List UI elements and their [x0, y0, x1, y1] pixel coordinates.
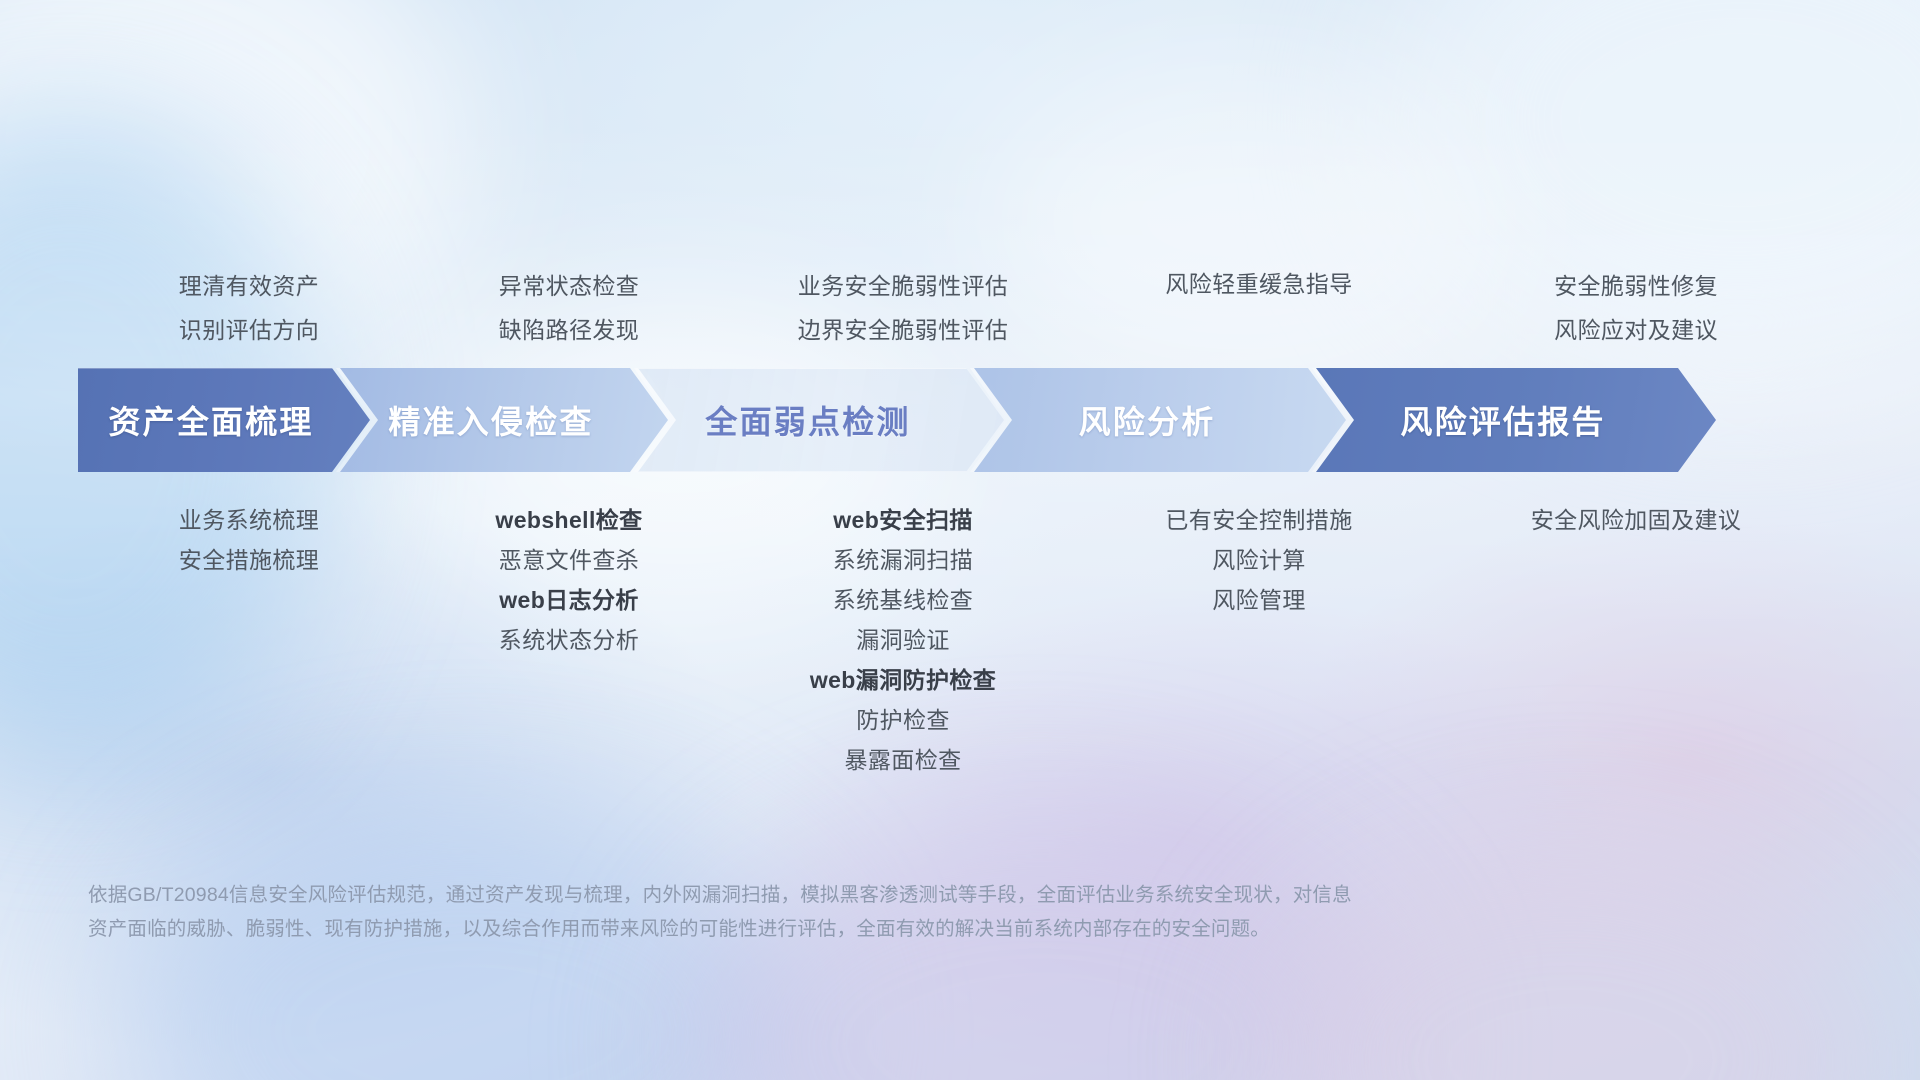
stage-title: 全面弱点检测: [705, 397, 936, 443]
footer-description: 依据GB/T20984信息安全风险评估规范，通过资产发现与梳理，内外网漏洞扫描，…: [88, 878, 1618, 946]
top-output-label: 风险应对及建议: [1440, 308, 1832, 352]
bottom-output-label: 防护检查: [728, 700, 1078, 740]
footer-line-1: 依据GB/T20984信息安全风险评估规范，通过资产发现与梳理，内外网漏洞扫描，…: [88, 878, 1618, 912]
bottom-outputs-row: 业务系统梳理 安全措施梳理 webshell检查 恶意文件查杀 web日志分析 …: [88, 500, 1832, 780]
stage-chevron-weakness-detection[interactable]: 全面弱点检测: [638, 368, 1004, 472]
stage-title: 资产全面梳理: [108, 397, 339, 443]
stage-title: 风险评估报告: [1400, 397, 1631, 443]
bottom-output-label: 安全风险加固及建议: [1440, 500, 1832, 540]
stage-chevron-asset-inventory[interactable]: 资产全面梳理: [78, 368, 370, 472]
bottom-outputs-intrusion-check: webshell检查 恶意文件查杀 web日志分析 系统状态分析: [410, 500, 728, 780]
bottom-output-label: 已有安全控制措施: [1078, 500, 1440, 540]
diagram-canvas: 理清有效资产 识别评估方向 异常状态检查 缺陷路径发现 业务安全脆弱性评估 边界…: [0, 0, 1920, 1080]
bottom-output-label: 业务系统梳理: [88, 500, 410, 540]
bottom-output-label: 安全措施梳理: [88, 540, 410, 580]
top-outputs-intrusion-check: 异常状态检查 缺陷路径发现: [410, 264, 728, 360]
process-chevron-band: 资产全面梳理 精准入侵检查 全面弱点检测 风险分析 风险评估报告: [78, 368, 1844, 472]
stage-chevron-risk-analysis[interactable]: 风险分析: [974, 368, 1346, 472]
top-output-label: 理清有效资产: [88, 264, 410, 308]
bottom-output-label: 系统漏洞扫描: [728, 540, 1078, 580]
bottom-output-label: 风险计算: [1078, 540, 1440, 580]
bottom-output-label: 暴露面检查: [728, 740, 1078, 780]
top-output-label: 风险轻重缓急指导: [1078, 262, 1440, 306]
top-output-label: 异常状态检查: [410, 264, 728, 308]
bottom-output-label: webshell检查: [410, 500, 728, 540]
top-outputs-asset-inventory: 理清有效资产 识别评估方向: [88, 264, 410, 360]
top-output-label: 业务安全脆弱性评估: [728, 264, 1078, 308]
bottom-output-label: 系统状态分析: [410, 620, 728, 660]
top-output-label: 识别评估方向: [88, 308, 410, 352]
bottom-outputs-weakness-detection: web安全扫描 系统漏洞扫描 系统基线检查 漏洞验证 web漏洞防护检查 防护检…: [728, 500, 1078, 780]
stage-chevron-intrusion-check[interactable]: 精准入侵检查: [340, 368, 668, 472]
top-outputs-weakness-detection: 业务安全脆弱性评估 边界安全脆弱性评估: [728, 264, 1078, 360]
footer-line-2: 资产面临的威胁、脆弱性、现有防护措施，以及综合作用而带来风险的可能性进行评估，全…: [88, 912, 1618, 946]
stage-title: 精准入侵检查: [388, 397, 619, 443]
bottom-outputs-asset-inventory: 业务系统梳理 安全措施梳理: [88, 500, 410, 780]
bottom-outputs-risk-report: 安全风险加固及建议: [1440, 500, 1832, 780]
bottom-output-label: 系统基线检查: [728, 580, 1078, 620]
top-output-label: 边界安全脆弱性评估: [728, 308, 1078, 352]
top-outputs-risk-analysis: 风险轻重缓急指导: [1078, 262, 1440, 360]
bottom-output-label: web漏洞防护检查: [728, 660, 1078, 700]
top-output-label: 安全脆弱性修复: [1440, 264, 1832, 308]
bottom-output-label: 恶意文件查杀: [410, 540, 728, 580]
stage-title: 风险分析: [1079, 397, 1242, 443]
top-outputs-risk-report: 安全脆弱性修复 风险应对及建议: [1440, 264, 1832, 360]
top-outputs-row: 理清有效资产 识别评估方向 异常状态检查 缺陷路径发现 业务安全脆弱性评估 边界…: [88, 210, 1832, 360]
bottom-output-label: web日志分析: [410, 580, 728, 620]
bottom-output-label: web安全扫描: [728, 500, 1078, 540]
top-output-label: 缺陷路径发现: [410, 308, 728, 352]
bottom-output-label: 漏洞验证: [728, 620, 1078, 660]
bottom-output-label: 风险管理: [1078, 580, 1440, 620]
stage-chevron-risk-report[interactable]: 风险评估报告: [1316, 368, 1716, 472]
bottom-outputs-risk-analysis: 已有安全控制措施 风险计算 风险管理: [1078, 500, 1440, 780]
